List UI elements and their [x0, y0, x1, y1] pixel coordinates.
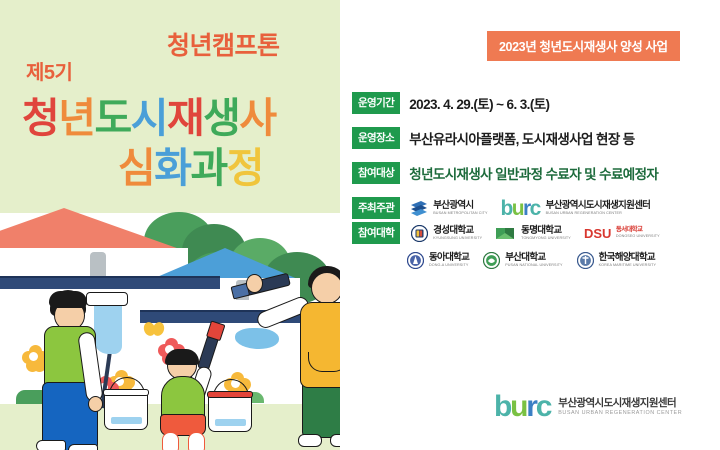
shoe-icon [330, 434, 340, 447]
butterfly-icon [144, 320, 166, 340]
logo-pusan-national-university: 부산대학교 PUSAN NATIONAL UNIVERSITY [482, 251, 562, 270]
footer-logo-text: 부산광역시도시재생지원센터 BUSAN URBAN REGENERATION C… [558, 398, 682, 417]
university-crest-icon [482, 251, 501, 270]
roof-shape [0, 208, 188, 252]
logo-name-en: KYUNGSUNG UNIVERSITY [433, 237, 482, 241]
figure-painter-apron [290, 258, 340, 450]
info-value-period: 2023. 4. 29.(토) ~ 6. 3.(토) [409, 93, 549, 113]
logo-name-en: PUSAN NATIONAL UNIVERSITY [505, 264, 562, 268]
university-crest-icon [576, 251, 595, 270]
logo-name-en: KOREA MARITIME UNIVERSITY [599, 264, 656, 268]
logo-text: 경성대학교 KYUNGSUNG UNIVERSITY [433, 226, 482, 241]
logo-name-en: DONGSEO UNIVERSITY [616, 235, 660, 239]
shoe-icon [188, 432, 205, 450]
logo-kyungsung-university: 경성대학교 KYUNGSUNG UNIVERSITY [410, 224, 482, 243]
info-row-venue: 운영장소 부산유라시아플랫폼, 도시재생사업 현장 등 [352, 127, 712, 149]
logo-name-ko: 부산광역시도시재생지원센터 [546, 201, 651, 211]
poster-root: 청년캠프톤 제5기 청년도시재생사 심화과정 2023년 청년도시재생사 양성 … [0, 0, 720, 450]
logo-text: 동아대학교 DONG-A UNIVERSITY [429, 253, 469, 268]
footer-burc-logo: burc 부산광역시도시재생지원센터 BUSAN URBAN REGENERAT… [494, 392, 682, 422]
pants-shape [302, 380, 340, 438]
logo-name-en: BUSAN METROPOLITAN CITY [433, 212, 487, 216]
logo-donga-university: 동아대학교 DONG-A UNIVERSITY [406, 251, 469, 270]
main-title-line2: 심화과정 [118, 134, 263, 194]
logo-name-ko: 동아대학교 [429, 253, 469, 263]
footer-name-ko: 부산광역시도시재생지원센터 [558, 398, 682, 409]
logo-text: 부산광역시 BUSAN METROPOLITAN CITY [433, 201, 487, 216]
apron-shape [300, 302, 340, 388]
hair-shape [49, 291, 87, 308]
bucket-label [215, 419, 246, 426]
logo-name-en: BUSAN URBAN REGENERATION CENTER [546, 212, 651, 216]
host-chip: 주최주관 [352, 197, 400, 219]
footer-name-en: BUSAN URBAN REGENERATION CENTER [558, 411, 682, 417]
content-panel: 2023년 청년도시재생사 양성 사업 운영기간 2023. 4. 29.(토)… [340, 0, 720, 450]
info-value-audience: 청년도시재생사 일반과정 수료자 및 수료예정자 [409, 163, 658, 183]
university-crest-icon [406, 251, 425, 270]
logo-text: 동서대학교 DONGSEO UNIVERSITY [616, 227, 660, 239]
logo-name-ko: 부산대학교 [505, 253, 562, 263]
shoe-icon [68, 444, 98, 450]
logo-name-ko: 경성대학교 [433, 226, 482, 236]
logo-name-ko: 한국해양대학교 [599, 253, 656, 263]
shoe-icon [162, 432, 179, 450]
burc-wordmark: burc [501, 198, 540, 219]
logo-text: 한국해양대학교 KOREA MARITIME UNIVERSITY [599, 253, 656, 268]
svg-text:DSU: DSU [584, 226, 611, 241]
bucket-rim [103, 389, 149, 396]
program-banner: 2023년 청년도시재생사 양성 사업 [487, 31, 680, 61]
shoe-icon [298, 434, 322, 447]
logo-busan-city: 부산광역시 BUSAN METROPOLITAN CITY [410, 199, 487, 218]
logo-name-ko: 부산광역시 [433, 201, 487, 211]
logo-text: 동명대학교 TONGMYONG UNIVERSITY [521, 226, 571, 241]
paint-bucket-icon [104, 392, 148, 430]
title-block: 청년캠프톤 제5기 청년도시재생사 심화과정 [0, 0, 340, 200]
busan-wave-icon [410, 199, 429, 218]
info-list: 운영기간 2023. 4. 29.(토) ~ 6. 3.(토) 운영장소 부산유… [352, 92, 712, 226]
logo-dongseo-university: DSU 동서대학교 DONGSEO UNIVERSITY [584, 224, 660, 243]
apron-pocket [308, 352, 340, 372]
hand-shape [88, 396, 103, 412]
university-list: 참여대학 경성대학교 KYUNGSUNG UNIVERSITY [352, 222, 712, 270]
fence-rail [0, 276, 220, 289]
head-shape [311, 272, 340, 304]
university-row-1: 참여대학 경성대학교 KYUNGSUNG UNIVERSITY [352, 222, 712, 244]
logo-name-ko: 동명대학교 [521, 226, 571, 236]
cohort-label: 제5기 [26, 56, 72, 85]
university-chip: 참여대학 [352, 222, 400, 244]
university-crest-icon [410, 224, 429, 243]
logo-korea-maritime-university: 한국해양대학교 KOREA MARITIME UNIVERSITY [576, 251, 656, 270]
logo-name-en: TONGMYONG UNIVERSITY [521, 237, 571, 241]
logo-tongmyong-university: 동명대학교 TONGMYONG UNIVERSITY [495, 224, 571, 243]
host-row: 주최주관 부산광역시 BUSAN METROPOLITAN CITY [352, 197, 712, 219]
paint-stroke [94, 306, 122, 354]
painted-cloud-icon [235, 328, 279, 349]
paint-roller-head-icon [86, 292, 128, 306]
info-value-venue: 부산유라시아플랫폼, 도시재생사업 현장 등 [409, 128, 634, 148]
chimney-icon [90, 252, 106, 278]
logo-text: 부산대학교 PUSAN NATIONAL UNIVERSITY [505, 253, 562, 268]
info-chip-audience: 참여대상 [352, 162, 400, 184]
paint-bucket-icon [208, 394, 252, 432]
info-row-period: 운영기간 2023. 4. 29.(토) ~ 6. 3.(토) [352, 92, 712, 114]
dsu-wordmark-icon: DSU [584, 224, 612, 243]
logo-burc: burc 부산광역시도시재생지원센터 BUSAN URBAN REGENERAT… [501, 198, 651, 219]
university-row-2: 동아대학교 DONG-A UNIVERSITY 부산대학교 [406, 251, 712, 270]
logo-name-en: DONG-A UNIVERSITY [429, 264, 469, 268]
info-row-audience: 참여대상 청년도시재생사 일반과정 수료자 및 수료예정자 [352, 162, 712, 184]
logo-name-ko: 동서대학교 [616, 227, 660, 234]
info-chip-period: 운영기간 [352, 92, 400, 114]
university-emblem-icon [495, 224, 517, 243]
burc-wordmark: burc [494, 392, 550, 422]
campthon-title: 청년캠프톤 [167, 26, 280, 62]
info-chip-venue: 운영장소 [352, 127, 400, 149]
bucket-label [111, 417, 142, 424]
hair-shape [165, 349, 199, 365]
shoe-icon [36, 440, 66, 450]
logo-text: 부산광역시도시재생지원센터 BUSAN URBAN REGENERATION C… [546, 201, 651, 216]
hand-shape [246, 274, 263, 293]
bucket-rim [207, 391, 253, 398]
